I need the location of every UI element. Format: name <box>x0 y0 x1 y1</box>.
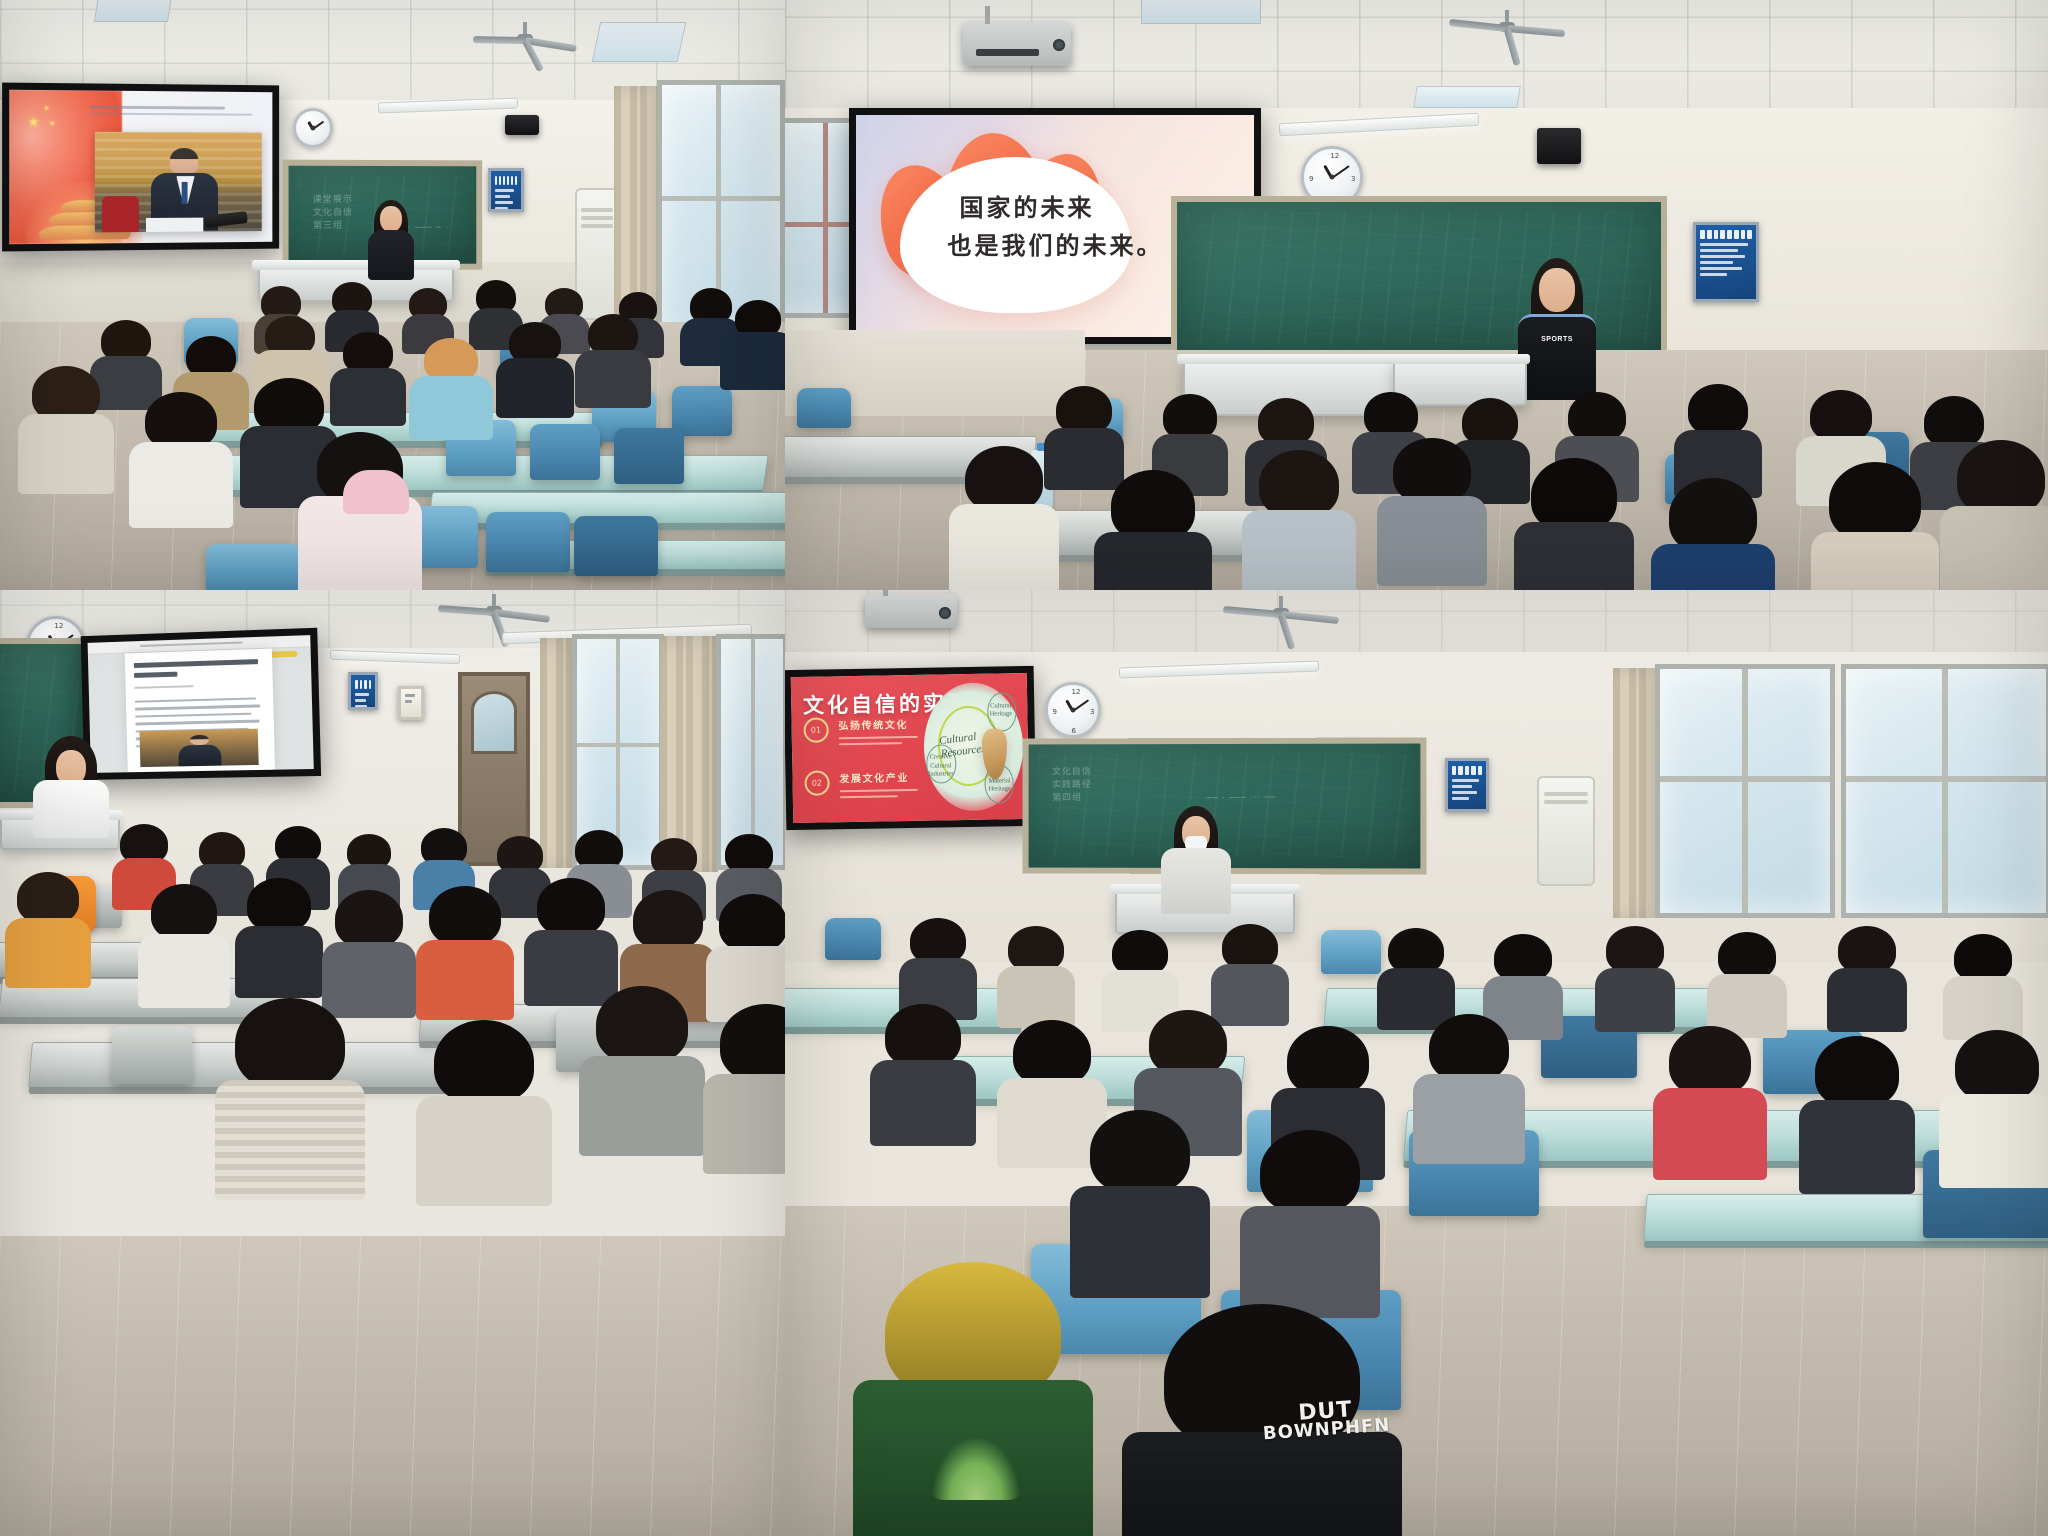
student <box>1835 926 1899 1024</box>
student <box>148 884 220 996</box>
projection-screen: ★ ★ ★ <box>9 90 272 245</box>
student <box>244 878 314 988</box>
wall-cabinet <box>1537 776 1595 886</box>
bullet-item: 01 弘扬传统文化 <box>803 716 922 750</box>
article-inline-photo <box>140 729 258 767</box>
projection-screen <box>88 635 314 773</box>
student <box>1085 1110 1195 1282</box>
article-headline <box>134 659 263 678</box>
slide-bullets: 01 弘扬传统文化 02 发展文化产业 <box>803 716 924 823</box>
student <box>98 320 154 402</box>
student <box>426 886 504 1008</box>
classroom-chair <box>614 428 684 484</box>
blue-notice-board <box>1445 758 1489 812</box>
panel-bottom-left: 12 3 6 9 <box>0 590 785 1536</box>
floor <box>0 1236 785 1536</box>
student <box>1685 384 1751 484</box>
news-photo <box>95 132 262 233</box>
article-meta <box>134 685 193 689</box>
projection-screen-frame <box>81 628 321 780</box>
bullet-number: 02 <box>804 770 829 795</box>
student <box>1389 438 1475 572</box>
student <box>1951 934 2015 1032</box>
student <box>1255 450 1343 586</box>
panel-top-right: 国家的未来 也是我们的未来。 12 3 6 9 <box>785 0 2048 590</box>
student <box>346 470 406 514</box>
window <box>1841 664 2048 918</box>
blue-notice-board <box>488 168 524 212</box>
chalk-marks: ── · ─── ··· ── <box>1207 792 1276 804</box>
student <box>230 998 350 1184</box>
student <box>1005 926 1067 1022</box>
window-curtain <box>660 636 718 872</box>
classroom-chair <box>530 424 600 480</box>
student <box>1255 1130 1365 1302</box>
presenter-jacket-logo: SPORTS <box>1541 336 1573 343</box>
wall-clock: 12 3 6 9 <box>1045 682 1101 738</box>
student <box>1665 478 1761 590</box>
student <box>1107 470 1199 590</box>
article-slide <box>88 635 314 773</box>
ceiling-light-panel <box>1413 86 1520 108</box>
student <box>1385 928 1447 1024</box>
wall-clock <box>293 108 333 148</box>
student <box>1527 458 1621 590</box>
panel-bottom-right: 文化自信的实践 01 弘扬传统文化 02 发展文化产业 <box>785 590 2048 1536</box>
window-curtain <box>1613 668 1657 918</box>
student <box>1009 1020 1095 1154</box>
student <box>1603 926 1667 1024</box>
classroom-chair <box>112 1026 192 1084</box>
ceiling-light-panel <box>1141 0 1261 24</box>
bullet-number: 01 <box>803 717 828 742</box>
student <box>534 878 608 994</box>
window <box>1655 664 1835 918</box>
student <box>1951 1030 2043 1172</box>
student <box>881 1004 965 1134</box>
window-curtain <box>540 638 574 868</box>
ceiling-projector <box>865 594 957 628</box>
student <box>140 392 222 520</box>
student <box>716 894 785 1012</box>
bullet-item: 02 发展文化产业 <box>804 769 923 803</box>
jacket-graphic-leaf <box>931 1436 1021 1500</box>
bullet-heading: 弘扬传统文化 <box>838 716 921 732</box>
classroom-chair <box>1321 930 1381 974</box>
diagram-node-label: Cultural Heritage <box>988 702 1014 719</box>
article-body <box>125 648 275 772</box>
student <box>420 338 482 430</box>
page-badge <box>270 650 297 658</box>
chalk-writing: 文化自信 实践路径 第四组 <box>1052 766 1092 805</box>
blue-notice-board <box>348 672 378 710</box>
bullet-heading: 增强文化认同 <box>840 822 923 823</box>
wall-speaker <box>505 115 539 135</box>
cultural-resources-diagram: Cultural Heritage Creative Cultural Indu… <box>923 682 1024 812</box>
ceiling-light-panel <box>592 22 687 62</box>
ceiling-fan <box>436 594 552 624</box>
student <box>1811 1036 1903 1178</box>
projection-screen: 文化自信的实践 01 弘扬传统文化 02 发展文化产业 <box>791 673 1030 823</box>
student <box>716 1004 785 1162</box>
bullet-heading: 发展文化产业 <box>839 769 922 785</box>
projection-screen-frame: ★ ★ ★ <box>2 83 279 252</box>
panel-top-left: ★ ★ ★ <box>0 0 785 590</box>
classroom-chair <box>797 388 851 428</box>
culture-slide: 文化自信的实践 01 弘扬传统文化 02 发展文化产业 <box>791 673 1030 823</box>
student <box>332 890 406 1006</box>
ceiling-projector <box>963 22 1071 66</box>
ceiling-light-panel <box>94 0 172 22</box>
student <box>14 872 82 980</box>
student <box>1715 932 1779 1030</box>
ceiling-fan <box>470 22 580 54</box>
student <box>1825 462 1925 590</box>
student <box>907 918 969 1014</box>
student <box>1219 924 1281 1020</box>
student <box>1953 440 2048 590</box>
ceiling-fan <box>1221 596 1341 628</box>
news-slide: ★ ★ ★ <box>9 90 272 245</box>
classroom-chair <box>574 516 658 576</box>
diagram-node-label: Material Heritage <box>986 777 1013 794</box>
blue-notice-board <box>1693 222 1759 302</box>
student <box>1665 1026 1755 1166</box>
ceiling-fan <box>1447 10 1567 44</box>
student <box>1053 386 1115 480</box>
projection-screen-frame: 文化自信的实践 01 弘扬传统文化 02 发展文化产业 <box>785 666 1036 830</box>
student <box>730 300 785 386</box>
presenter-top-left <box>362 200 420 278</box>
student <box>506 322 564 410</box>
presenter-bottom-left <box>28 736 114 832</box>
classroom-chair <box>672 386 732 436</box>
presenter-bottom-right <box>1157 806 1235 910</box>
student <box>430 1020 538 1190</box>
classroom-chair <box>825 918 881 960</box>
classroom-chair <box>206 544 302 590</box>
student <box>28 366 104 486</box>
classroom-chair <box>486 512 570 572</box>
student <box>1425 1014 1513 1150</box>
wall-speaker <box>1537 128 1581 164</box>
chalk-writing: 课堂展示 文化自信 第三组 <box>313 194 354 234</box>
bullet-item: 03 增强文化认同 <box>805 822 924 823</box>
wall-poster <box>398 686 424 720</box>
student <box>584 314 642 400</box>
student <box>340 332 396 418</box>
slide-headline <box>90 106 262 120</box>
student <box>592 986 692 1144</box>
photo-collage: ★ ★ ★ <box>0 0 2048 1536</box>
student <box>961 446 1047 580</box>
